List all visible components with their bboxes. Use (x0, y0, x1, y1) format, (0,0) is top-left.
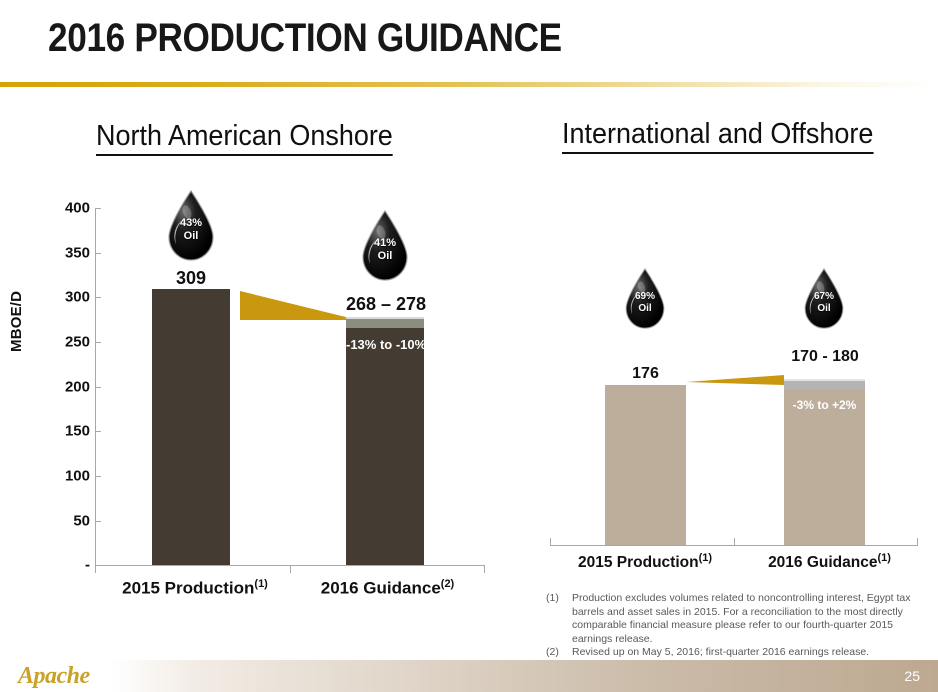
trend-wedge-flat-icon (686, 372, 784, 388)
category-label-2016-guidance-na: 2016 Guidance(2) (305, 578, 470, 599)
x-axis-tick-end-intl (917, 538, 918, 546)
x-axis-tick-mid-intl (734, 538, 735, 546)
footnote-1: (1) Production excludes volumes related … (546, 592, 934, 646)
bar-change-label-2016-guidance: -13% to -10% (346, 337, 424, 352)
footnote-2-marker: (2) (546, 646, 572, 660)
page-title: 2016 PRODUCTION GUIDANCE (48, 16, 562, 61)
y-tick-mark-100 (95, 476, 101, 477)
bar-value-2016-guidance: 268 – 278 (330, 294, 442, 315)
y-tick-mark-250 (95, 342, 101, 343)
y-tick-mark-350 (95, 253, 101, 254)
x-axis-tick-start-intl (550, 538, 551, 546)
category-label-2016-guidance-intl: 2016 Guidance(1) (752, 552, 907, 572)
section-heading-international-offshore: International and Offshore (562, 118, 873, 151)
category-label-2016-guidance-intl-text: 2016 Guidance (768, 554, 877, 571)
x-axis-tick-mid (290, 565, 291, 573)
y-tick-mark-300 (95, 297, 101, 298)
y-tick-label-300: 300 (34, 289, 90, 306)
oil-drop-icon-69-pct: 69% Oil (621, 268, 669, 330)
footnote-1-text: Production excludes volumes related to n… (572, 592, 934, 646)
oil-drop-icon-43-pct: 43% Oil (163, 190, 219, 262)
oil-drop-icon-41-pct: 41% Oil (357, 210, 413, 282)
bar-range-cap-2016-guidance-intl (784, 379, 865, 389)
oil-drop-icon-67-pct: 67% Oil (800, 268, 848, 330)
x-axis-tick-end (484, 565, 485, 573)
y-tick-mark-200 (95, 387, 101, 388)
y-tick-label-50: 50 (34, 512, 90, 529)
bar-value-2016-guidance-intl: 170 - 180 (770, 348, 880, 366)
section-heading-na-text: North American Onshore (96, 120, 393, 156)
page-number: 25 (904, 668, 920, 684)
y-tick-label-350: 350 (34, 244, 90, 261)
x-axis-tick-start (95, 565, 96, 573)
section-heading-north-american-onshore: North American Onshore (96, 120, 393, 153)
y-axis-title: MBOE/D (8, 291, 25, 352)
footnote-2-text: Revised up on May 5, 2016; first-quarter… (572, 646, 934, 660)
bar-2016-guidance (346, 326, 424, 565)
y-tick-label-250: 250 (34, 334, 90, 351)
bar-change-label-2016-guidance-intl: -3% to +2% (784, 398, 865, 412)
category-footnote-ref-2: (2) (441, 578, 454, 590)
footnote-2: (2) Revised up on May 5, 2016; first-qua… (546, 646, 934, 660)
footer-gradient-bar (112, 660, 938, 692)
apache-logo: Apache (18, 663, 90, 690)
section-heading-intl-text: International and Offshore (562, 118, 873, 154)
footnote-1-marker: (1) (546, 592, 572, 646)
y-tick-label-150: 150 (34, 423, 90, 440)
category-label-2015-production-intl: 2015 Production(1) (565, 552, 725, 572)
category-label-2016-guidance-na-text: 2016 Guidance (321, 579, 441, 598)
y-tick-mark-400 (95, 208, 101, 209)
footnotes-block: (1) Production excludes volumes related … (546, 592, 934, 660)
bar-value-2015-production-intl: 176 (604, 365, 687, 383)
category-footnote-ref-intl-1: (1) (699, 552, 712, 564)
bar-range-cap-2016-guidance (346, 317, 424, 328)
y-tick-label-zero: - (34, 557, 90, 574)
y-tick-label-100: 100 (34, 468, 90, 485)
y-tick-label-400: 400 (34, 200, 90, 217)
category-footnote-ref-1: (1) (254, 578, 267, 590)
category-footnote-ref-intl-2: (1) (877, 552, 890, 564)
y-tick-label-200: 200 (34, 378, 90, 395)
category-label-2015-production-na: 2015 Production(1) (110, 578, 280, 599)
category-label-2015-production-intl-text: 2015 Production (578, 554, 699, 571)
bar-2015-production-intl (605, 385, 686, 545)
y-tick-mark-150 (95, 431, 101, 432)
title-divider-rule (0, 82, 938, 87)
bar-value-2015-production: 309 (151, 268, 231, 289)
category-label-2015-production-na-text: 2015 Production (122, 579, 254, 598)
bar-2015-production (152, 289, 230, 565)
y-tick-mark-50 (95, 521, 101, 522)
